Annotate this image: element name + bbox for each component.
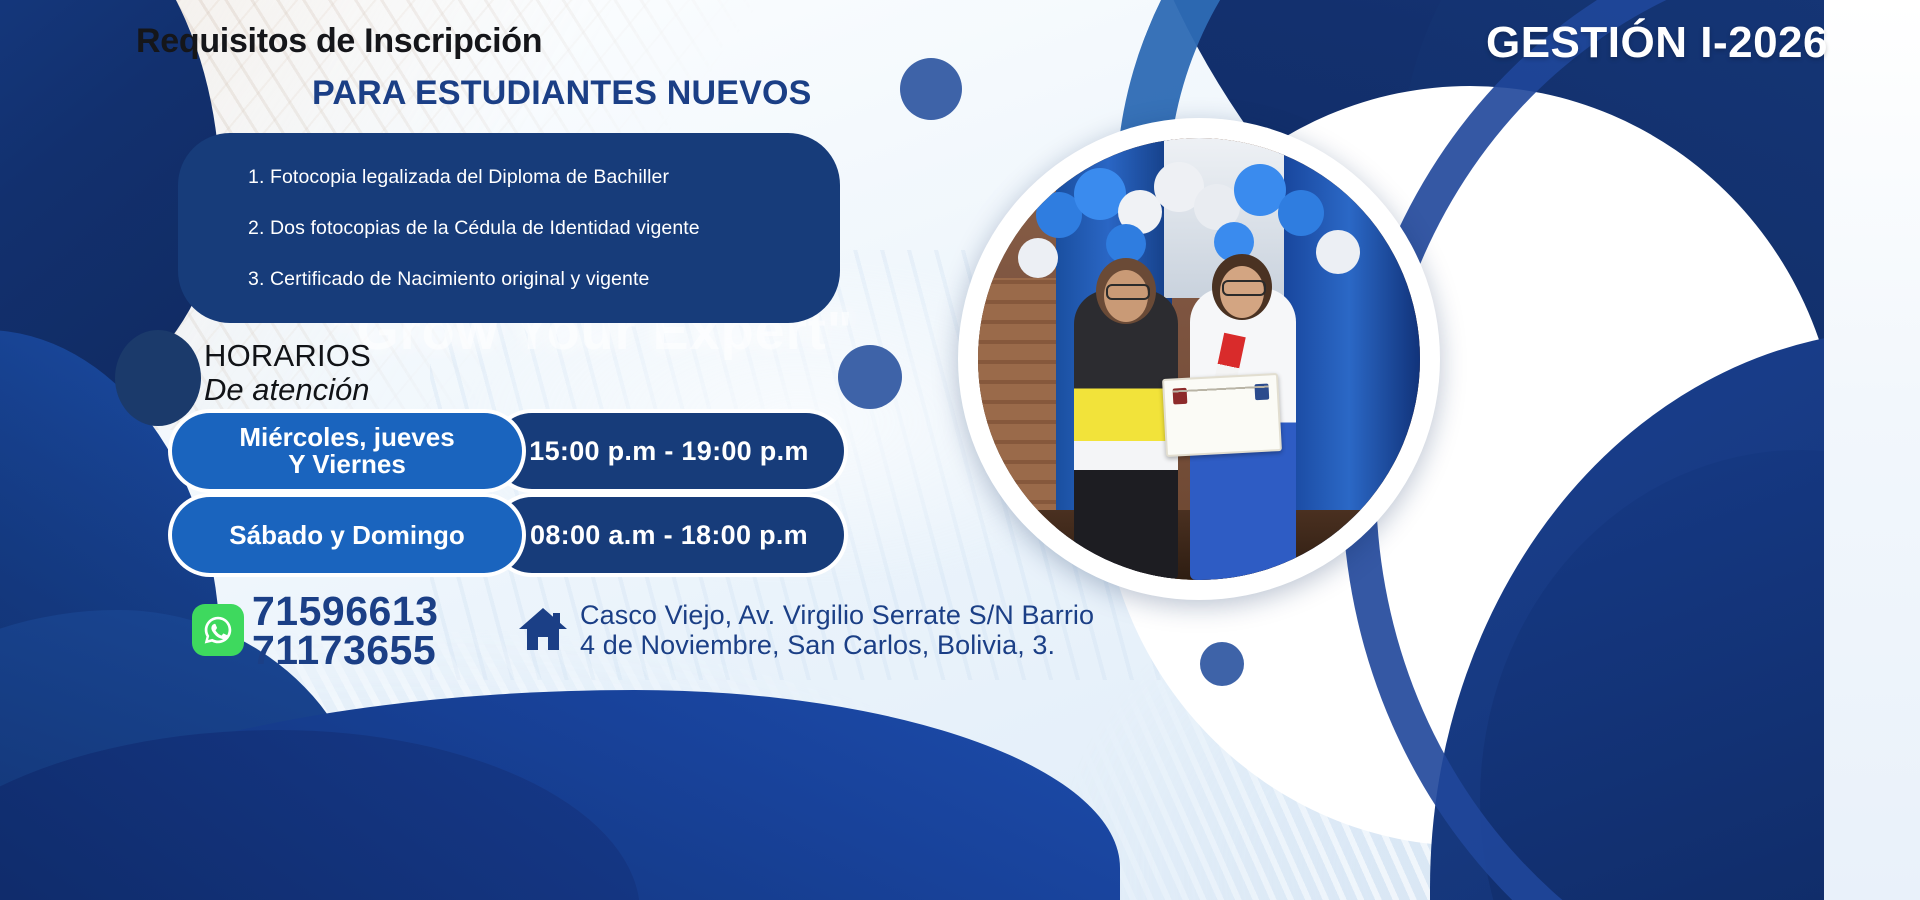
home-icon <box>516 604 570 654</box>
requirement-item: 1. Fotocopia legalizada del Diploma de B… <box>248 166 840 189</box>
schedule-list: Miércoles, jueves Y Viernes 15:00 p.m - … <box>172 413 902 581</box>
schedule-days-line2: Y Viernes <box>288 449 406 479</box>
phone-number: 71173655 <box>252 631 438 670</box>
decor-strip-far-right <box>1824 0 1920 900</box>
decor-dot-middle <box>838 345 902 409</box>
phone-numbers: 71596613 71173655 <box>252 592 438 671</box>
schedule-days-pill: Miércoles, jueves Y Viernes <box>172 413 522 489</box>
schedule-days-pill: Sábado y Domingo <box>172 497 522 573</box>
graduation-photo <box>978 138 1420 580</box>
schedule-row: Miércoles, jueves Y Viernes 15:00 p.m - … <box>172 413 902 489</box>
requirements-box: 1. Fotocopia legalizada del Diploma de B… <box>178 133 840 323</box>
address-text: Casco Viejo, Av. Virgilio Serrate S/N Ba… <box>580 600 1220 660</box>
schedule-row: Sábado y Domingo 08:00 a.m - 18:00 p.m <box>172 497 902 573</box>
whatsapp-icon[interactable] <box>192 604 244 656</box>
requirement-item: 2. Dos fotocopias de la Cédula de Identi… <box>248 217 840 240</box>
phone-number: 71596613 <box>252 592 438 631</box>
schedule-time-pill: 15:00 p.m - 19:00 p.m <box>494 413 844 489</box>
gestion-badge: GESTIÓN I-2026 <box>1486 18 1828 68</box>
address-line: 4 de Noviembre, San Carlos, Bolivia, 3. <box>580 630 1220 660</box>
page-title-secondary: PARA ESTUDIANTES NUEVOS <box>312 74 812 113</box>
poster-root: "Grow Your Expert" <box>0 0 1920 900</box>
schedule-days-line1: Miércoles, jueves <box>239 422 454 452</box>
schedule-subheading: De atención <box>204 372 369 408</box>
schedule-heading: HORARIOS <box>204 338 371 374</box>
decor-dot-top <box>900 58 962 120</box>
page-title-primary: Requisitos de Inscripción <box>136 22 542 61</box>
decor-dot-left <box>115 330 201 426</box>
requirement-item: 3. Certificado de Nacimiento original y … <box>248 268 840 291</box>
schedule-time-pill: 08:00 a.m - 18:00 p.m <box>494 497 844 573</box>
address-line: Casco Viejo, Av. Virgilio Serrate S/N Ba… <box>580 600 1220 630</box>
